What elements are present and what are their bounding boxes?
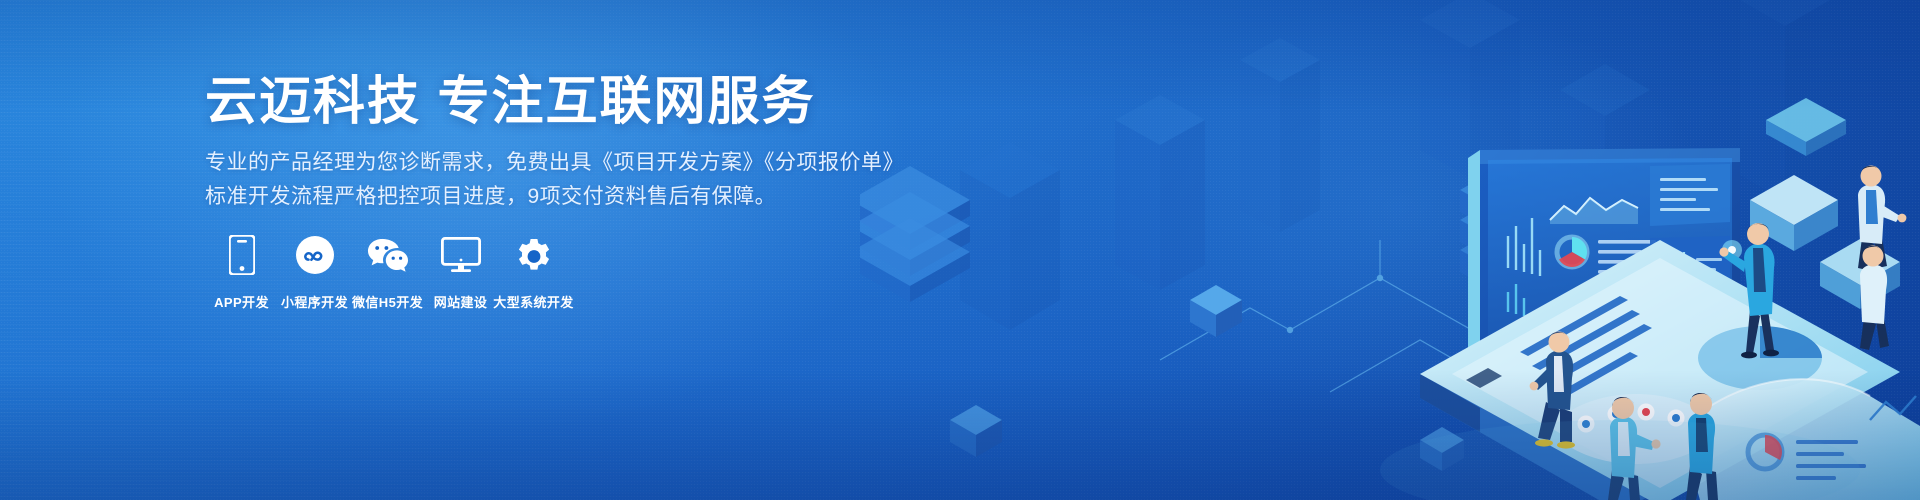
service-item-system[interactable]: 大型系统开发 bbox=[497, 232, 570, 311]
service-item-app[interactable]: APP开发 bbox=[205, 232, 278, 311]
page-title: 云迈科技 专注互联网服务 bbox=[205, 72, 815, 132]
gear-icon bbox=[515, 232, 553, 278]
subtitle-line-1: 专业的产品经理为您诊断需求，免费出具《项目开发方案》《分项报价单》 bbox=[205, 146, 905, 180]
service-label-website: 网站建设 bbox=[434, 292, 488, 311]
service-item-website[interactable]: 网站建设 bbox=[424, 232, 497, 311]
mini-program-icon bbox=[296, 232, 334, 278]
mobile-phone-icon bbox=[229, 232, 255, 278]
subtitle-line-2: 标准开发流程严格把控项目进度，9项交付资料售后有保障。 bbox=[205, 180, 905, 214]
service-label-miniprogram: 小程序开发 bbox=[281, 292, 348, 311]
service-list: APP开发 小程序开发 bbox=[205, 232, 570, 311]
service-item-wechat[interactable]: 微信H5开发 bbox=[351, 232, 424, 311]
service-label-wechat: 微信H5开发 bbox=[352, 292, 423, 311]
subtitle-block: 专业的产品经理为您诊断需求，免费出具《项目开发方案》《分项报价单》 标准开发流程… bbox=[205, 146, 905, 214]
monitor-icon bbox=[441, 232, 481, 278]
service-label-system: 大型系统开发 bbox=[493, 292, 573, 311]
wechat-icon bbox=[367, 232, 409, 278]
hero-banner: 云迈科技 专注互联网服务 专业的产品经理为您诊断需求，免费出具《项目开发方案》《… bbox=[0, 0, 1920, 500]
banner-copy: 云迈科技 专注互联网服务 专业的产品经理为您诊断需求，免费出具《项目开发方案》《… bbox=[205, 0, 925, 500]
service-label-app: APP开发 bbox=[214, 292, 269, 311]
service-item-miniprogram[interactable]: 小程序开发 bbox=[278, 232, 351, 311]
